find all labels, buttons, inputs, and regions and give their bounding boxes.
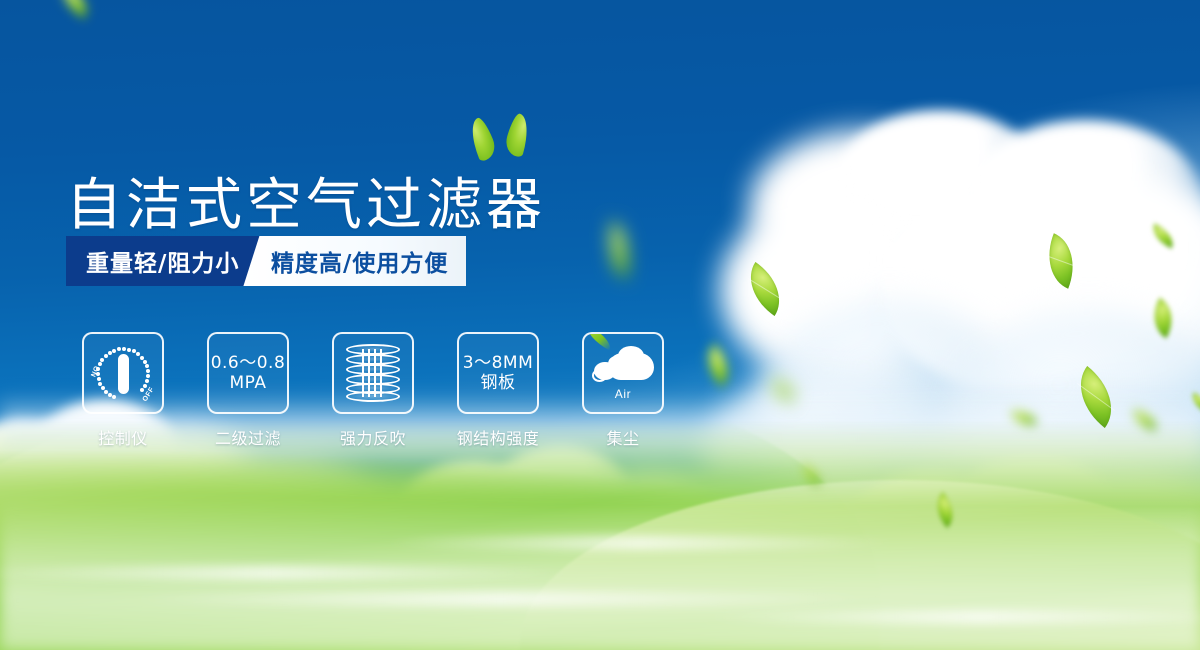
dial-tick-dot [127, 348, 131, 352]
feature-label-secondary-filter: 二级过滤 [215, 425, 281, 449]
feature-icon-box-cartridge [332, 332, 414, 414]
dial-tick-dot [140, 388, 144, 392]
page-title: 自洁式空气过滤器 [66, 178, 546, 234]
feature-label-steel-strength: 钢结构强度 [457, 425, 540, 449]
filter-cartridge-icon [346, 344, 400, 402]
dial-tick-dot [98, 382, 102, 386]
sprout-leaf-right [503, 112, 534, 158]
feature-list: NO OFF 控制仪 0.6～0.8 MPA 二级过滤 [72, 332, 674, 449]
dial-tick-dot [96, 372, 100, 376]
dial-tick-dot [140, 356, 144, 360]
dial-tick-dot [145, 364, 149, 368]
dial-tick-dot [108, 393, 112, 397]
dial-tick-dot [97, 377, 101, 381]
feature-label-backblow: 强力反吹 [340, 425, 406, 449]
cloud-icon-leaf [583, 332, 615, 350]
subtitle-bar: 重量轻/阻力小 精度高/使用方便 [66, 236, 466, 286]
subtitle-segment-left: 重量轻/阻力小 [66, 236, 259, 286]
dial-tick-dot [146, 374, 150, 378]
feature-label-controller: 控制仪 [98, 425, 148, 449]
feature-item-controller[interactable]: NO OFF 控制仪 [72, 332, 174, 449]
subtitle-segment-right: 精度高/使用方便 [243, 236, 466, 286]
dial-tick-dot [143, 360, 147, 364]
feature-item-secondary-filter[interactable]: 0.6～0.8 MPA 二级过滤 [197, 332, 299, 449]
feature-item-dust-collection[interactable]: Air 集尘 [572, 332, 674, 449]
air-cloud-icon [592, 342, 654, 386]
product-banner: 自洁式空气过滤器 重量轻/阻力小 精度高/使用方便 NO OFF 控制仪 0.6… [0, 0, 1200, 650]
dial-tick-dot [112, 349, 116, 353]
grass-field [0, 420, 1200, 650]
feature-item-backblow[interactable]: 强力反吹 [322, 332, 424, 449]
dial-tick-dot [146, 369, 150, 373]
dial-gauge-icon: NO OFF [91, 342, 155, 404]
feature-icon-box-steel: 3～8MM 钢板 [457, 332, 539, 414]
steel-thickness: 3～8MM [463, 353, 533, 373]
pressure-text-icon: 0.6～0.8 MPA [211, 353, 286, 393]
dial-tick-dot [145, 379, 149, 383]
feature-label-dust-collection: 集尘 [606, 425, 639, 449]
feature-icon-box-pressure: 0.6～0.8 MPA [207, 332, 289, 414]
dial-tick-dot [136, 352, 140, 356]
dial-tick-dot [143, 384, 147, 388]
dial-tick-dot [122, 347, 126, 351]
dial-tick-dot [100, 358, 104, 362]
feature-item-steel-strength[interactable]: 3～8MM 钢板 钢结构强度 [447, 332, 549, 449]
pressure-unit: MPA [211, 373, 286, 393]
feature-icon-box-controller: NO OFF [82, 332, 164, 414]
dial-tick-dot [117, 347, 121, 351]
dial-tick-dot [112, 395, 116, 399]
dial-tick-dot [98, 362, 102, 366]
cloud-ring-small [592, 369, 607, 382]
steel-plate-text-icon: 3～8MM 钢板 [463, 353, 533, 393]
feature-icon-box-air: Air [582, 332, 664, 414]
dial-tick-dot [104, 354, 108, 358]
dial-needle [118, 354, 129, 394]
air-caption: Air [615, 387, 631, 401]
sprout-leaves-icon [468, 112, 548, 162]
pressure-value: 0.6～0.8 [211, 353, 286, 373]
sprout-leaf-left [465, 116, 499, 162]
dial-tick-dot [108, 351, 112, 355]
steel-material: 钢板 [463, 373, 533, 393]
